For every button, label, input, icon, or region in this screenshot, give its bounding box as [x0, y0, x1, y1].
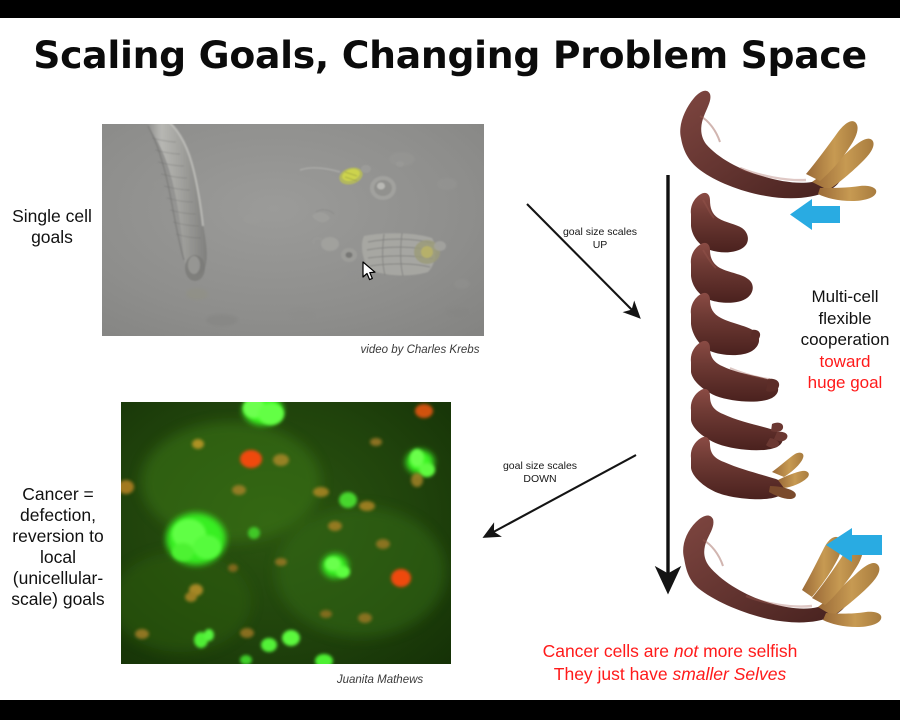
- label-multicell-line2: flexible: [819, 309, 872, 328]
- credit-ciliate: video by Charles Krebs: [320, 344, 520, 356]
- bottom-line2-emphasis: smaller Selves: [672, 664, 786, 684]
- caption-goal-scales-up: goal size scales UP: [552, 226, 648, 251]
- label-multicell-line3: cooperation: [801, 330, 890, 349]
- limb-stage-6-digit-buds: [691, 437, 809, 499]
- bottom-line-1: Cancer cells are not more selfish: [543, 641, 798, 661]
- caption-goal-scales-down: goal size scales DOWN: [490, 460, 590, 485]
- cyan-arrow-bottom: [826, 528, 882, 562]
- limb-stage-2-stump: [691, 243, 753, 303]
- caption-down-line2: DOWN: [523, 473, 556, 485]
- label-cancer-line2: defection,: [20, 505, 96, 525]
- caption-up-line1: goal size scales: [563, 226, 637, 238]
- caption-down-line1: goal size scales: [503, 460, 577, 472]
- label-single-cell-goals: Single cell goals: [2, 206, 102, 248]
- label-single-cell-line2: goals: [31, 227, 73, 247]
- label-cancer-line6: scale) goals: [11, 589, 104, 609]
- ciliate-microscopy-video[interactable]: [102, 124, 484, 336]
- bottom-statement: Cancer cells are not more selfish They j…: [470, 640, 870, 686]
- bottom-line-2: They just have smaller Selves: [554, 664, 786, 684]
- label-multicell-line1: Multi-cell: [811, 287, 878, 306]
- label-cancer-line1: Cancer =: [22, 484, 94, 504]
- mouse-cursor: [362, 261, 378, 288]
- label-multicell-line4: toward: [819, 352, 870, 371]
- limb-stage-3-budding: [691, 293, 760, 355]
- letterbox-bottom: [0, 700, 900, 720]
- bottom-line1-emphasis: not: [674, 641, 698, 661]
- caption-up-line2: UP: [593, 239, 608, 251]
- limb-stage-4-elongating: [691, 341, 779, 402]
- limb-stage-1-stump: [691, 193, 748, 253]
- bottom-line1-part-b: more selfish: [698, 641, 797, 661]
- label-single-cell-line1: Single cell: [12, 206, 92, 226]
- fluorescence-image-content: [121, 402, 451, 664]
- cyan-arrow-top: [790, 199, 840, 230]
- label-multicell-line5: huge goal: [808, 373, 883, 392]
- bottom-line2-part-a: They just have: [554, 664, 673, 684]
- ciliate-image-content: [102, 124, 484, 336]
- limb-stage-full-bottom: [683, 515, 881, 627]
- slide-root: Scaling Goals, Changing Problem Space: [0, 0, 900, 720]
- arrow-goal-scales-up: [527, 204, 638, 316]
- label-multicell-cooperation: Multi-cell flexible cooperation toward h…: [790, 286, 900, 394]
- letterbox-top: [0, 0, 900, 18]
- bottom-line1-part-a: Cancer cells are: [543, 641, 674, 661]
- credit-fluorescence: Juanita Mathews: [290, 674, 470, 686]
- label-cancer-line3: reversion to: [12, 526, 103, 546]
- fluorescence-micrograph[interactable]: [121, 402, 451, 664]
- limb-stage-5-flat-paddle: [691, 389, 788, 450]
- page-title: Scaling Goals, Changing Problem Space: [0, 34, 900, 77]
- label-cancer-definition: Cancer = defection, reversion to local (…: [0, 484, 116, 610]
- limb-stage-full-top: [680, 91, 876, 201]
- slide-canvas: Scaling Goals, Changing Problem Space: [0, 18, 900, 700]
- label-cancer-line5: (unicellular-: [13, 568, 103, 588]
- label-cancer-line4: local: [40, 547, 76, 567]
